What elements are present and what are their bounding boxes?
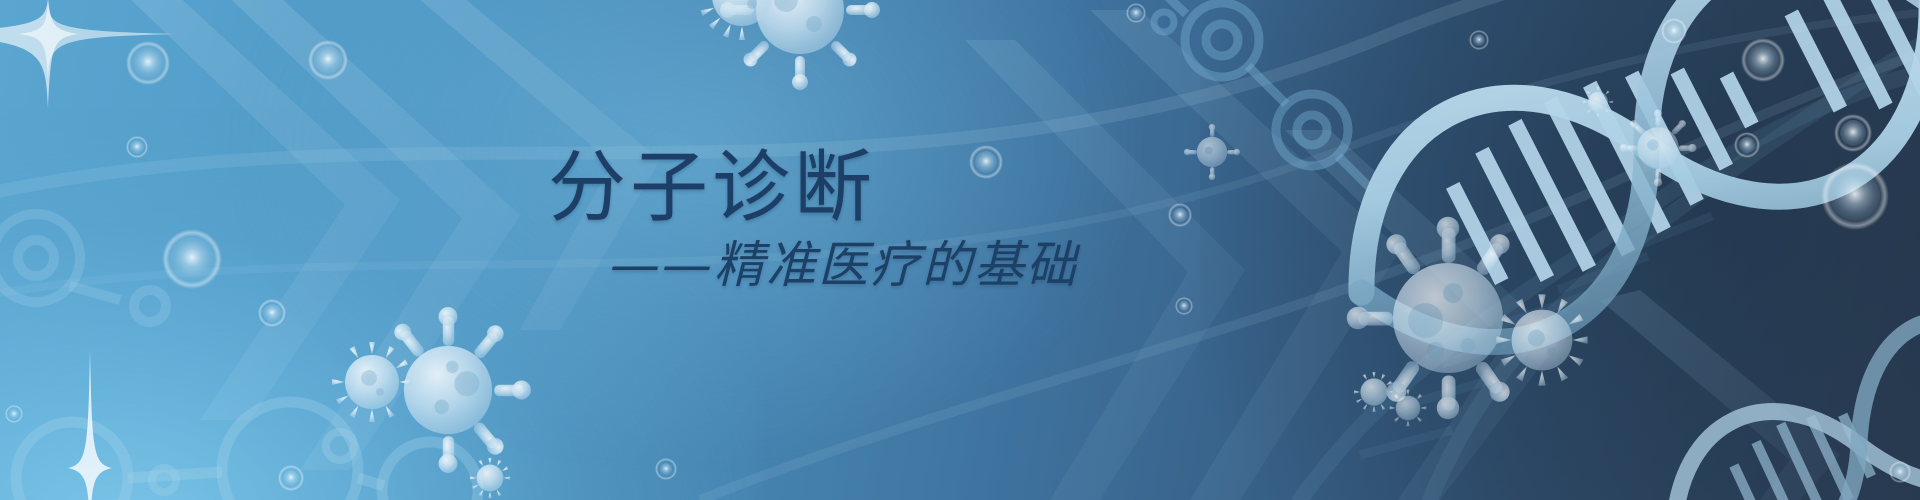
hero-banner: 分子诊断 ——精准医疗的基础	[0, 0, 1920, 500]
sparkle-bottom-left	[0, 0, 1920, 500]
